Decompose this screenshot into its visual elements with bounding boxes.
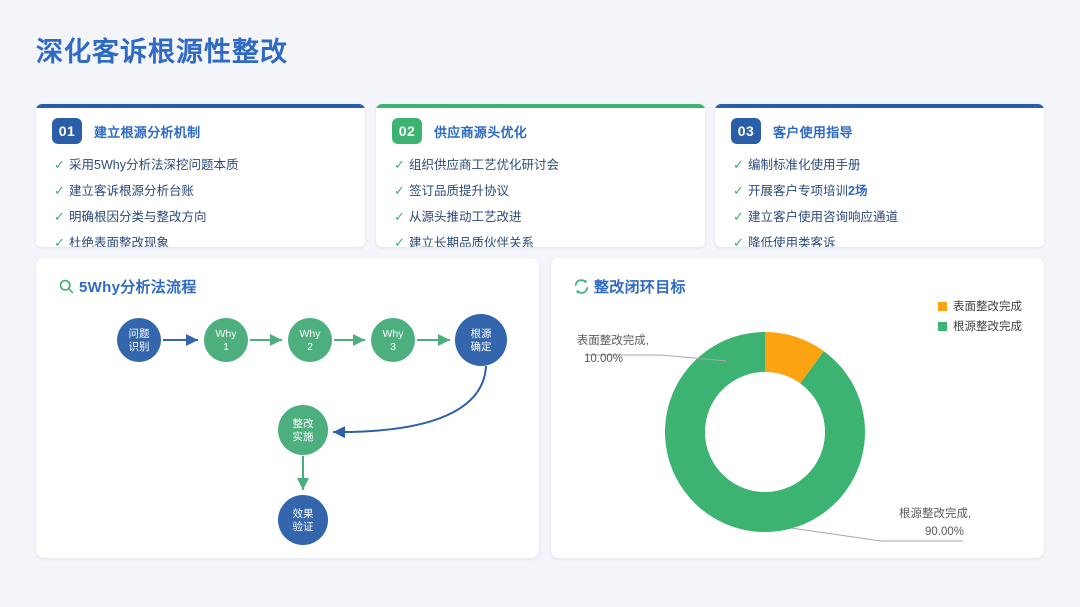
svg-text:问题: 问题 [129, 327, 150, 340]
card-number-badge: 03 [731, 118, 761, 144]
check-icon: ✓ [733, 206, 748, 228]
donut-panel: 整改闭环目标 表面整改完成 根源整改完成 表面整改完成, 10.00% [551, 258, 1044, 558]
check-icon: ✓ [54, 206, 69, 228]
list-item-label: 采用5Why分析法深挖问题本质 [69, 154, 238, 176]
card-number-badge: 02 [392, 118, 422, 144]
check-icon: ✓ [394, 206, 409, 228]
list-item: ✓ 建立长期品质伙伴关系 [394, 232, 559, 247]
check-icon: ✓ [394, 180, 409, 202]
card-title: 建立根源分析机制 [94, 122, 200, 141]
card-title: 供应商源头优化 [434, 122, 527, 141]
slide-root: 深化客诉根源性整改 01 建立根源分析机制 ✓ 采用5Why分析法深挖问题本质 … [0, 0, 1080, 607]
card-header: 01 建立根源分析机制 [52, 118, 200, 144]
list-item: ✓ 杜绝表面整改现象 [54, 232, 238, 247]
list-item: ✓ 降低使用类客诉 [733, 232, 898, 247]
list-item-label: 从源头推动工艺改进 [409, 206, 522, 228]
donut-slice-root[interactable] [665, 332, 865, 532]
card-checklist: ✓ 组织供应商工艺优化研讨会 ✓ 签订品质提升协议 ✓ 从源头推动工艺改进 ✓ … [394, 154, 559, 247]
svg-text:整改: 整改 [293, 417, 314, 430]
svg-text:2: 2 [307, 341, 313, 353]
card-accent-bar [715, 104, 1044, 108]
svg-text:根源: 根源 [471, 327, 492, 340]
svg-text:Why: Why [216, 328, 238, 340]
flow-node-problem-identify[interactable]: 问题 识别 [117, 318, 161, 362]
check-icon: ✓ [54, 154, 69, 176]
list-item: ✓ 从源头推动工艺改进 [394, 206, 559, 228]
flow-node-why-3[interactable]: Why 3 [371, 318, 415, 362]
flow-edge-n5-n6 [333, 366, 486, 432]
svg-text:1: 1 [223, 341, 229, 353]
list-item: ✓ 组织供应商工艺优化研讨会 [394, 154, 559, 176]
page-title: 深化客诉根源性整改 [36, 30, 288, 69]
list-item: ✓ 建立客诉根源分析台账 [54, 180, 238, 202]
check-icon: ✓ [733, 180, 748, 202]
callout-surface-value: 10.00% [584, 353, 623, 365]
list-item-label: 降低使用类客诉 [748, 232, 836, 247]
check-icon: ✓ [54, 232, 69, 247]
card-accent-bar [36, 104, 365, 108]
flow-node-effect-verify[interactable]: 效果 验证 [278, 495, 328, 545]
card-01[interactable]: 01 建立根源分析机制 ✓ 采用5Why分析法深挖问题本质 ✓ 建立客诉根源分析… [36, 104, 365, 247]
list-item-label: 建立长期品质伙伴关系 [409, 232, 534, 247]
list-item-label: 建立客户使用咨询响应通道 [748, 206, 898, 228]
callout-root-name: 根源整改完成, [899, 506, 971, 520]
svg-text:Why: Why [300, 328, 322, 340]
callout-root-value: 90.00% [925, 526, 964, 538]
check-icon: ✓ [733, 154, 748, 176]
svg-text:效果: 效果 [293, 507, 314, 520]
card-checklist: ✓ 编制标准化使用手册 ✓ 开展客户专项培训2场 ✓ 建立客户使用咨询响应通道 … [733, 154, 898, 247]
svg-text:验证: 验证 [293, 520, 314, 533]
card-02[interactable]: 02 供应商源头优化 ✓ 组织供应商工艺优化研讨会 ✓ 签订品质提升协议 ✓ 从… [376, 104, 705, 247]
list-item-label: 组织供应商工艺优化研讨会 [409, 154, 559, 176]
card-accent-bar [376, 104, 705, 108]
check-icon: ✓ [394, 154, 409, 176]
flow-node-why-1[interactable]: Why 1 [204, 318, 248, 362]
card-header: 03 客户使用指导 [731, 118, 853, 144]
list-item-label: 签订品质提升协议 [409, 180, 509, 202]
list-item: ✓ 建立客户使用咨询响应通道 [733, 206, 898, 228]
cards-row: 01 建立根源分析机制 ✓ 采用5Why分析法深挖问题本质 ✓ 建立客诉根源分析… [36, 104, 1044, 247]
callout-surface-name: 表面整改完成, [577, 333, 649, 347]
donut-chart: 表面整改完成, 10.00% 根源整改完成, 90.00% [551, 258, 1044, 558]
list-item-label-highlight: 开展客户专项培训2场 [748, 180, 867, 202]
list-item-label: 杜绝表面整改现象 [69, 232, 169, 247]
card-header: 02 供应商源头优化 [392, 118, 527, 144]
svg-text:识别: 识别 [129, 341, 150, 353]
list-item: ✓ 签订品质提升协议 [394, 180, 559, 202]
list-item: ✓ 开展客户专项培训2场 [733, 180, 898, 202]
svg-text:实施: 实施 [293, 430, 314, 443]
list-item: ✓ 编制标准化使用手册 [733, 154, 898, 176]
check-icon: ✓ [733, 232, 748, 247]
card-title: 客户使用指导 [773, 122, 853, 141]
svg-text:确定: 确定 [471, 340, 492, 353]
flow-node-rectify-implement[interactable]: 整改 实施 [278, 405, 328, 455]
check-icon: ✓ [54, 180, 69, 202]
list-item-label: 建立客诉根源分析台账 [69, 180, 194, 202]
list-item: ✓ 采用5Why分析法深挖问题本质 [54, 154, 238, 176]
flow-panel: 5Why分析法流程 [36, 258, 539, 558]
check-icon: ✓ [394, 232, 409, 247]
card-number-badge: 01 [52, 118, 82, 144]
list-item-label: 明确根因分类与整改方向 [69, 206, 207, 228]
card-03[interactable]: 03 客户使用指导 ✓ 编制标准化使用手册 ✓ 开展客户专项培训2场 ✓ 建立客… [715, 104, 1044, 247]
flow-node-why-2[interactable]: Why 2 [288, 318, 332, 362]
flow-diagram: 问题 识别 Why 1 Why 2 Why 3 根源 确定 [36, 258, 539, 558]
svg-text:3: 3 [390, 341, 396, 353]
list-item-label: 编制标准化使用手册 [748, 154, 861, 176]
svg-text:Why: Why [383, 328, 405, 340]
list-item: ✓ 明确根因分类与整改方向 [54, 206, 238, 228]
flow-node-root-cause[interactable]: 根源 确定 [455, 314, 507, 366]
card-checklist: ✓ 采用5Why分析法深挖问题本质 ✓ 建立客诉根源分析台账 ✓ 明确根因分类与… [54, 154, 238, 247]
